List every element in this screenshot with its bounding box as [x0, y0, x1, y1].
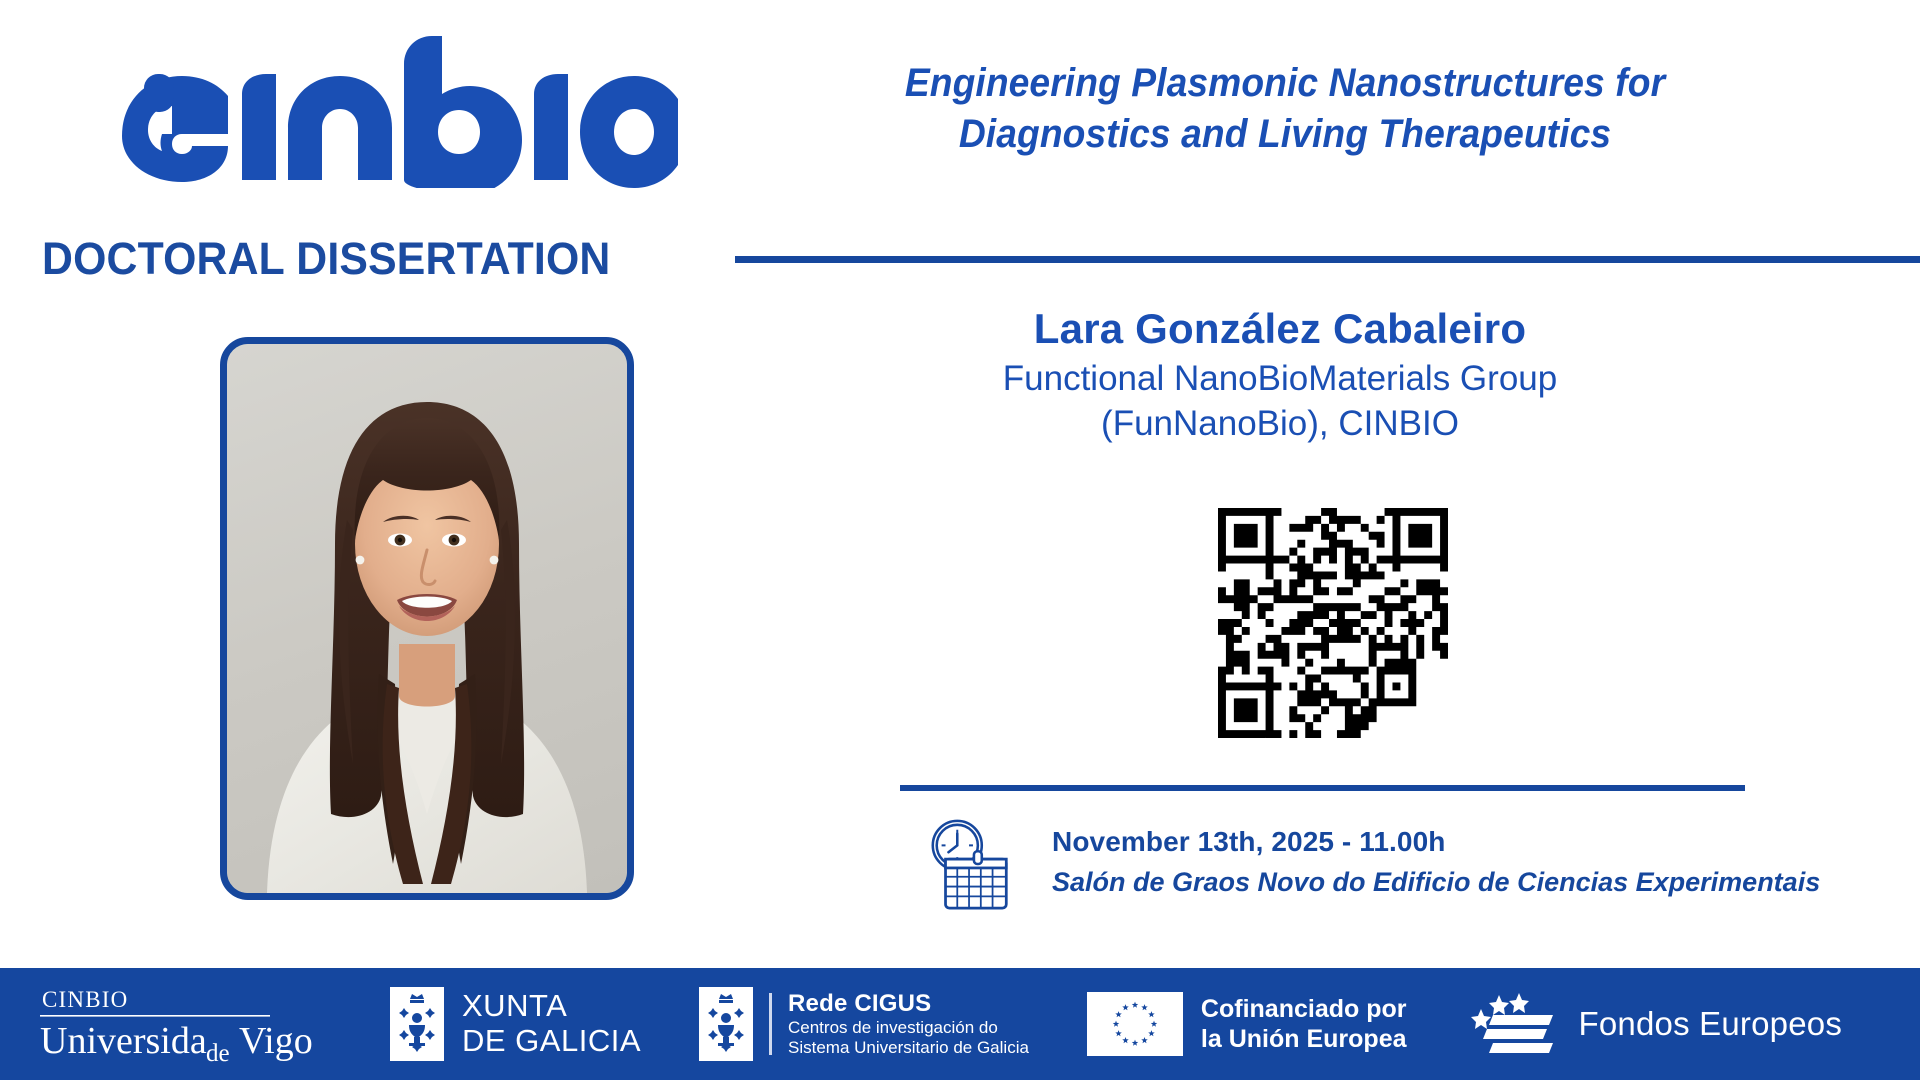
fondos-label: Fondos Europeos — [1579, 1005, 1843, 1043]
footer-logo-uvigo: CINBIO Universida de Vigo — [38, 981, 368, 1067]
title-line-1: Engineering Plasmonic Nanostructures for — [905, 61, 1665, 105]
footer-logo-xunta: XUNTA DE GALICIA — [390, 987, 641, 1061]
cigus-text: Rede CIGUS Centros de investigación do S… — [788, 990, 1029, 1058]
footer-logo-fondos-europeos: Fondos Europeos — [1467, 989, 1843, 1059]
affiliation-line-2: (FunNanoBio), CINBIO — [780, 402, 1780, 447]
event-block: November 13th, 2025 - 11.00h Salón de Gr… — [922, 812, 1822, 922]
doctoral-dissertation-kicker: DOCTORAL DISSERTATION — [42, 233, 610, 285]
event-datetime: November 13th, 2025 - 11.00h — [1052, 826, 1820, 858]
footer-logo-bar: CINBIO Universida de Vigo — [0, 968, 1920, 1080]
cinbio-logo — [78, 28, 678, 188]
cigus-sub-line-1: Centros de investigación do — [788, 1018, 1029, 1038]
clock-calendar-icon — [922, 816, 1020, 914]
footer-logo-eu: Cofinanciado por la Unión Europea — [1087, 992, 1407, 1056]
kicker-rule — [735, 256, 1920, 263]
speaker-affiliation: Functional NanoBioMaterials Group (FunNa… — [780, 357, 1780, 447]
xunta-line-1: XUNTA — [462, 989, 641, 1024]
speaker-portrait — [227, 344, 627, 893]
xunta-text: XUNTA DE GALICIA — [462, 989, 641, 1058]
cigus-subtitle: Centros de investigación do Sistema Univ… — [788, 1018, 1029, 1058]
speaker-name: Lara González Cabaleiro — [780, 305, 1780, 353]
eu-flag-icon — [1087, 992, 1183, 1056]
galicia-coat-of-arms-icon-cigus — [699, 987, 753, 1061]
poster-root: DOCTORAL DISSERTATION Engineering Plasmo… — [0, 0, 1920, 1080]
event-divider — [900, 785, 1745, 791]
uvigo-cinbio-label: CINBIO — [42, 987, 128, 1012]
fondos-europeos-icon — [1467, 989, 1563, 1059]
footer-logo-cigus: Rede CIGUS Centros de investigación do S… — [699, 987, 1029, 1061]
uvigo-vigo-label: Vigo — [239, 1020, 313, 1062]
dissertation-title: Engineering Plasmonic Nanostructures for… — [741, 58, 1829, 160]
qr-code[interactable] — [1218, 508, 1448, 738]
title-line-2: Diagnostics and Living Therapeutics — [741, 109, 1829, 160]
speaker-block: Lara González Cabaleiro Functional NanoB… — [780, 305, 1780, 447]
event-text: November 13th, 2025 - 11.00h Salón de Gr… — [1052, 826, 1820, 898]
uvigo-universidade-label: Universida — [40, 1020, 207, 1062]
cigus-divider — [769, 993, 772, 1055]
event-venue: Salón de Graos Novo do Edificio de Cienc… — [1052, 867, 1820, 898]
eu-text: Cofinanciado por la Unión Europea — [1201, 994, 1407, 1054]
xunta-line-2: DE GALICIA — [462, 1024, 641, 1059]
affiliation-line-1: Functional NanoBioMaterials Group — [780, 357, 1780, 402]
cigus-sub-line-2: Sistema Universitario de Galicia — [788, 1038, 1029, 1058]
uvigo-de-label: de — [206, 1040, 230, 1067]
speaker-portrait-frame — [220, 337, 634, 900]
galicia-coat-of-arms-icon — [390, 987, 444, 1061]
eu-line-2: la Unión Europea — [1201, 1024, 1407, 1054]
eu-line-1: Cofinanciado por — [1201, 994, 1407, 1024]
cigus-title: Rede CIGUS — [788, 990, 1029, 1018]
